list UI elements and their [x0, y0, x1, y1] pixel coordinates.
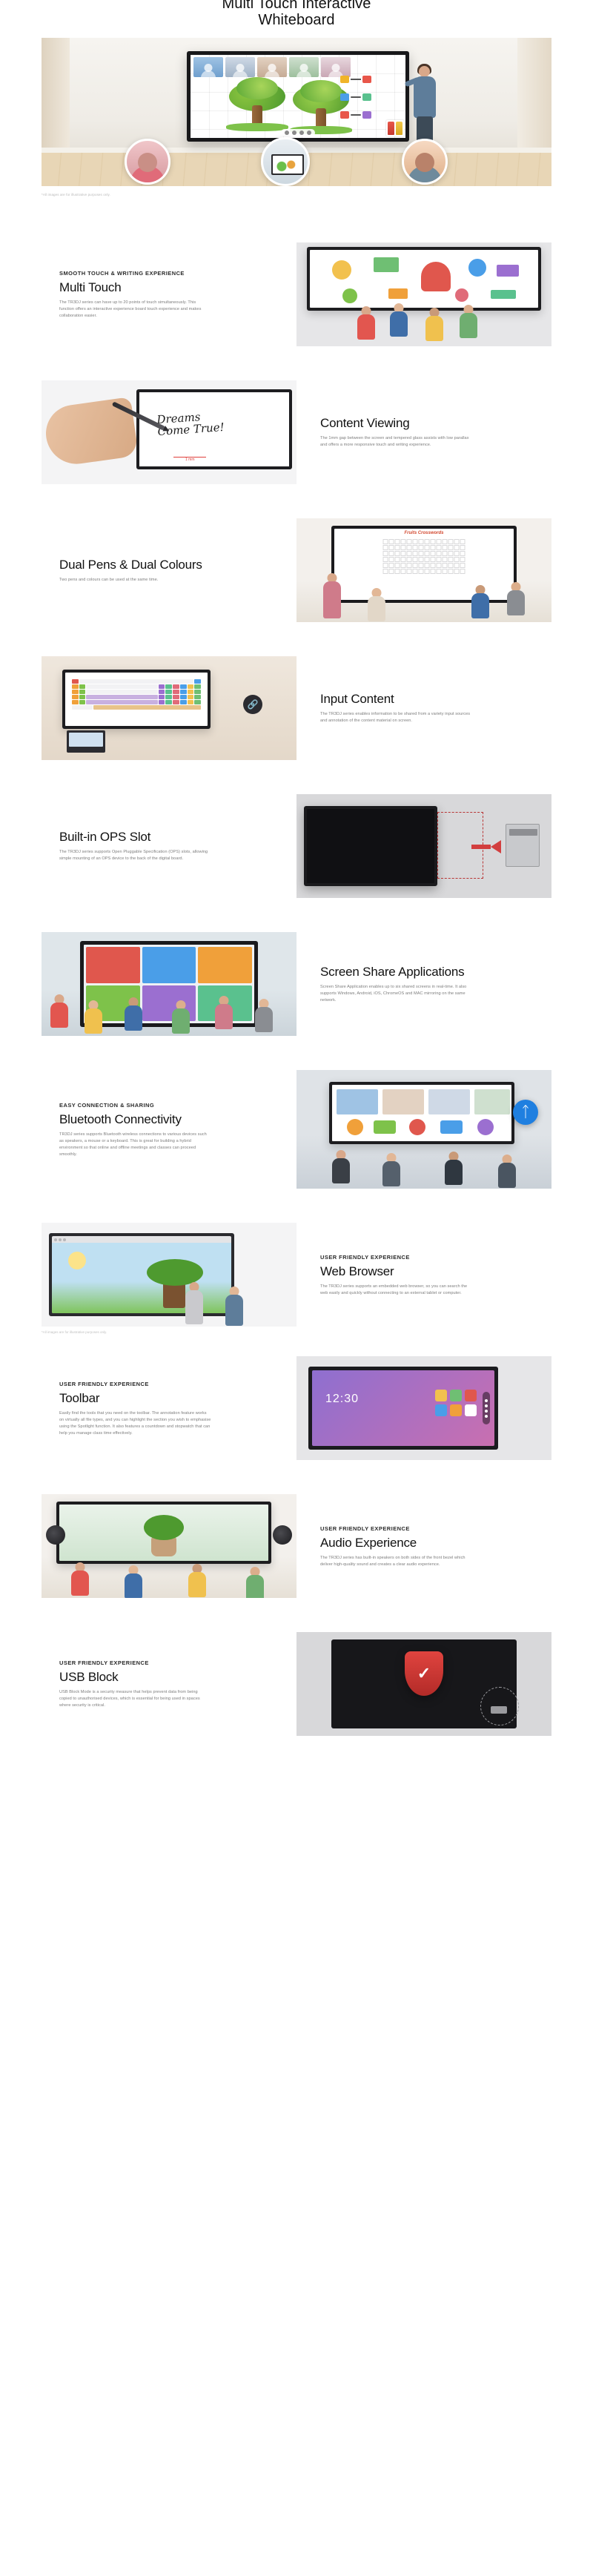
crossword-cell [425, 569, 430, 574]
mini-display-screen [273, 156, 302, 174]
feature-title: Toolbar [59, 1391, 273, 1405]
crossword-cell [448, 569, 454, 574]
crossword-cell [401, 569, 406, 574]
feature-image-bluetooth: ᛏ [296, 1070, 551, 1189]
crossword-cell [425, 539, 430, 544]
feature-text-block: Dual Pens & Dual Colours Two pens and co… [42, 558, 296, 584]
shield-check-glyph: ✓ [417, 1665, 431, 1682]
crossword-cell [419, 569, 424, 574]
feature-body: USB Block Mode is a security measure tha… [59, 1689, 211, 1709]
feature-title: Built-in OPS Slot [59, 830, 273, 844]
element-cell [79, 700, 86, 704]
element-cell [194, 690, 201, 694]
content-shape [440, 1120, 463, 1134]
crossword-cell [443, 569, 448, 574]
crossword-cell [443, 551, 448, 556]
feature-image-web-browser [42, 1223, 296, 1327]
crossword-cell [460, 569, 466, 574]
pen-tray [386, 120, 404, 136]
element-cell [72, 700, 79, 704]
crossword-cell [401, 551, 406, 556]
app-tile[interactable] [435, 1404, 447, 1416]
element-cell [79, 684, 86, 689]
diagram-node [340, 93, 349, 101]
hero-image [42, 38, 551, 186]
page-title-line1: Multi Touch Interactive [0, 0, 593, 12]
feature-image-screen-share [42, 932, 296, 1036]
link-icon: 🔗 [243, 695, 262, 714]
crossword-cell [448, 545, 454, 550]
shared-screen-tile [86, 947, 140, 983]
feature-body: The TR3DJ series has built-in speakers o… [320, 1555, 472, 1568]
crossword-cell [431, 545, 436, 550]
section-disclaimer: *All images are for illustrative purpose… [42, 1330, 551, 1334]
hero-disclaimer: *All images are for illustrative purpose… [42, 193, 551, 196]
doodle-shape [332, 260, 351, 280]
diagram-node [340, 111, 349, 119]
crossword-cell [448, 557, 454, 562]
diagram-connector [351, 114, 361, 116]
feature-bluetooth: EASY CONNECTION & SHARING Bluetooth Conn… [42, 1070, 551, 1189]
element-cell [72, 684, 79, 689]
yellow-pen-icon [396, 122, 402, 135]
display-panel [62, 670, 211, 729]
crossword-cell [437, 545, 442, 550]
element-cell [159, 695, 165, 699]
display-panel [307, 247, 541, 311]
element-cell [165, 700, 172, 704]
element-cell [188, 695, 194, 699]
element-cell [173, 700, 179, 704]
crossword-cell [419, 557, 424, 562]
feature-text-block: USER FRIENDLY EXPERIENCE Audio Experienc… [296, 1525, 551, 1568]
crossword-cell [460, 563, 466, 568]
crossword-cell [395, 569, 400, 574]
feature-body: The TR3DJ series enables information to … [320, 711, 472, 724]
crossword-cell [383, 563, 388, 568]
element-cell [79, 695, 86, 699]
participant-tile [382, 1089, 424, 1114]
student-body [50, 1003, 68, 1028]
feature-toolbar: USER FRIENDLY EXPERIENCE Toolbar Easily … [42, 1356, 551, 1460]
scene-background: 12:30 [296, 1356, 551, 1460]
participant-tile [193, 57, 223, 77]
scene-background [296, 242, 551, 346]
child-body [460, 313, 477, 338]
crossword-cell [431, 569, 436, 574]
side-toolbar[interactable] [483, 1392, 490, 1424]
element-cell [72, 695, 79, 699]
element-cell [180, 700, 187, 704]
feature-content-viewing: Content Viewing The 1mm gap between the … [42, 380, 551, 484]
crossword-cell [413, 539, 418, 544]
feature-body: Screen Share Application enables up to s… [320, 984, 472, 1004]
plant-leaves [144, 1515, 184, 1540]
toolbar-dot[interactable] [485, 1399, 488, 1402]
doodle-shape [491, 290, 516, 299]
feature-audio: USER FRIENDLY EXPERIENCE Audio Experienc… [42, 1494, 551, 1598]
app-tile[interactable] [465, 1390, 477, 1401]
crossword-cell [425, 551, 430, 556]
laptop-screen [69, 733, 103, 747]
student-body [255, 1007, 273, 1032]
child-body [471, 593, 489, 618]
product-page: Multi Touch Interactive Whiteboard [0, 0, 593, 1758]
gap-measure-label: 1 mm [185, 458, 195, 462]
periodic-table-grid [72, 679, 201, 719]
doodle-shape [374, 257, 399, 272]
scene-background: ✓ [296, 1632, 551, 1736]
shared-screen-tile [142, 947, 196, 983]
crossword-cell [419, 551, 424, 556]
audience-body [188, 1572, 206, 1597]
crossword-cell [443, 539, 448, 544]
ops-module-label-strip [509, 829, 537, 836]
student-body [215, 1004, 233, 1029]
feature-text-block: USER FRIENDLY EXPERIENCE Toolbar Easily … [42, 1380, 296, 1437]
crossword-cell [389, 539, 394, 544]
toolbar-dot[interactable] [485, 1404, 488, 1407]
thumbnail-bubble-device [261, 137, 310, 186]
feature-body: The 1mm gap between the screen and tempe… [320, 435, 472, 449]
bluetooth-icon: ᛏ [513, 1100, 538, 1125]
feature-body: Easily find the tools that you need on t… [59, 1410, 211, 1437]
crossword-cell [407, 563, 412, 568]
feature-title: Bluetooth Connectivity [59, 1112, 273, 1126]
element-cell [194, 700, 201, 704]
crossword-cell [401, 539, 406, 544]
presenter-body [225, 1295, 243, 1326]
presenter-figure [412, 66, 437, 146]
feature-image-audio [42, 1494, 296, 1598]
crossword-cell [401, 563, 406, 568]
display-rear-panel [307, 809, 434, 883]
crossword-cell [413, 557, 418, 562]
insert-arrow-head [491, 840, 501, 853]
student-body [172, 1008, 190, 1034]
content-shape [374, 1120, 396, 1134]
meeting-screen [332, 1085, 511, 1141]
feature-text-block: SMOOTH TOUCH & WRITING EXPERIENCE Multi … [42, 269, 296, 320]
scene-background [42, 932, 296, 1036]
feature-title: Audio Experience [320, 1536, 534, 1550]
feature-body: The TR3DJ series supports Open Pluggable… [59, 849, 211, 862]
insert-arrow-shaft [471, 845, 491, 849]
attendee-body [382, 1161, 400, 1186]
browser-dot [63, 1238, 66, 1241]
element-cell [86, 700, 157, 704]
crossword-cell [431, 551, 436, 556]
thumbnail-bubble-student [125, 139, 170, 185]
student-body [125, 1005, 142, 1031]
attendee-body [332, 1158, 350, 1183]
element-cell [173, 684, 179, 689]
crossword-display: Fruits Crosswords [331, 526, 517, 603]
page-title-line2: Whiteboard [0, 12, 593, 28]
feature-text-block: USER FRIENDLY EXPERIENCE Web Browser The… [296, 1253, 551, 1297]
diagram-illustration [337, 76, 380, 122]
feature-title: USB Block [59, 1670, 273, 1684]
diagram-connector [351, 96, 361, 98]
sun-illustration [68, 1252, 86, 1269]
content-shape [409, 1119, 425, 1135]
crossword-cell [383, 551, 388, 556]
doodle-shape [388, 288, 408, 299]
element-cell [165, 695, 172, 699]
feature-eyebrow: USER FRIENDLY EXPERIENCE [320, 1253, 534, 1261]
crossword-cell [419, 539, 424, 544]
doodle-shape [468, 259, 486, 277]
scene-background: Fruits Crosswords [296, 518, 551, 622]
feature-title: Input Content [320, 692, 534, 706]
element-cell [173, 695, 179, 699]
doodle-rocket [421, 262, 451, 291]
feature-dual-pens: Dual Pens & Dual Colours Two pens and co… [42, 518, 551, 622]
audience-body [246, 1575, 264, 1598]
element-cell [79, 690, 86, 694]
clock-display: 12:30 [325, 1393, 359, 1406]
feature-text-block: Input Content The TR3DJ series enables i… [296, 692, 551, 724]
crossword-cell [383, 557, 388, 562]
feature-title: Web Browser [320, 1264, 534, 1278]
element-cell [180, 684, 187, 689]
participant-tile [474, 1089, 510, 1114]
speaker-icon [273, 1525, 292, 1545]
crossword-cell [419, 545, 424, 550]
element-cell [72, 679, 79, 684]
feature-eyebrow: USER FRIENDLY EXPERIENCE [59, 1380, 273, 1388]
student-body [85, 1008, 102, 1034]
element-cell [194, 684, 201, 689]
crossword-cell [437, 569, 442, 574]
feature-text-block: Content Viewing The 1mm gap between the … [296, 416, 551, 449]
toolbar-dot [299, 131, 304, 135]
crossword-cell [389, 563, 394, 568]
browser-dot [54, 1238, 57, 1241]
participant-tile [289, 57, 319, 77]
feature-screen-share: Screen Share Applications Screen Share A… [42, 932, 551, 1036]
display-panel [329, 1082, 514, 1144]
feature-body: The TR3DJ series can have up to 20 point… [59, 300, 211, 320]
feature-title: Multi Touch [59, 280, 273, 294]
tree-illustration [229, 82, 285, 131]
crossword-cell [407, 545, 412, 550]
participant-tile [337, 1089, 378, 1114]
crossword-cell [395, 551, 400, 556]
crossword-cell [413, 563, 418, 568]
crossword-screen: Fruits Crosswords [334, 529, 514, 600]
crossword-grid [383, 539, 466, 574]
element-cell [86, 695, 157, 699]
crossword-cell [454, 545, 460, 550]
plant-image-screen [59, 1505, 268, 1561]
video-conference-tiles [193, 57, 351, 77]
audience-body [125, 1573, 142, 1598]
element-cell [188, 700, 194, 704]
element-cell [159, 690, 165, 694]
crossword-cell [431, 557, 436, 562]
participant-tile [321, 57, 351, 77]
crossword-title: Fruits Crosswords [404, 531, 443, 535]
display-panel [56, 1502, 271, 1564]
doodle-screen [310, 250, 538, 308]
app-tile[interactable] [450, 1404, 462, 1416]
crossword-cell [395, 539, 400, 544]
crossword-cell [413, 551, 418, 556]
feature-eyebrow: USER FRIENDLY EXPERIENCE [320, 1525, 534, 1533]
crossword-cell [389, 557, 394, 562]
toolbar-ui-screen: 12:30 [312, 1370, 494, 1446]
toolbar-dot[interactable] [485, 1410, 488, 1413]
feature-usb-block: USER FRIENDLY EXPERIENCE USB Block USB B… [42, 1632, 551, 1736]
app-tile[interactable] [435, 1390, 447, 1401]
feature-text-block: EASY CONNECTION & SHARING Bluetooth Conn… [42, 1101, 296, 1158]
feature-image-toolbar: 12:30 [296, 1356, 551, 1460]
doodle-shape [455, 288, 468, 302]
element-cell [194, 679, 201, 684]
doodle-shape [342, 288, 357, 303]
feature-title: Screen Share Applications [320, 965, 534, 979]
feature-text-block: USER FRIENDLY EXPERIENCE USB Block USB B… [42, 1659, 296, 1709]
element-cell [165, 684, 172, 689]
crossword-cell [443, 557, 448, 562]
browser-dot [59, 1238, 62, 1241]
element-cell [180, 695, 187, 699]
child-body [357, 314, 375, 340]
crossword-cell [389, 569, 394, 574]
crossword-cell [389, 551, 394, 556]
feature-title: Dual Pens & Dual Colours [59, 558, 273, 572]
crossword-cell [460, 539, 466, 544]
crossword-cell [389, 545, 394, 550]
toolbar-dot[interactable] [485, 1415, 488, 1418]
child-body [425, 316, 443, 341]
thumbnail-bubble-remote-user [402, 139, 448, 185]
ops-module [506, 824, 540, 867]
feature-image-input-content: 🔗 [42, 656, 296, 760]
scene-background: Dreams Come True! 1 mm [42, 380, 296, 484]
diagram-connector [351, 79, 361, 80]
attendee-body [445, 1160, 463, 1185]
speaker-icon [46, 1525, 65, 1545]
crossword-cell [425, 563, 430, 568]
element-cell [194, 695, 201, 699]
mini-display [271, 154, 304, 175]
element-cell [188, 684, 194, 689]
screen-toolbar [281, 129, 315, 136]
element-cell [159, 684, 165, 689]
feature-body: TR3DJ series supports Bluetooth wireless… [59, 1132, 211, 1158]
usb-plug-icon [491, 1706, 507, 1714]
element-cell [86, 690, 157, 694]
crossword-cell [454, 569, 460, 574]
crossword-cell [413, 545, 418, 550]
element-cell [86, 684, 157, 689]
crossword-cell [413, 569, 418, 574]
crossword-cell [395, 563, 400, 568]
feature-image-content-viewing: Dreams Come True! 1 mm [42, 380, 296, 484]
scene-background: ᛏ [296, 1070, 551, 1189]
crossword-cell [460, 557, 466, 562]
element-cell [180, 690, 187, 694]
scene-background [42, 1223, 296, 1327]
crossword-cell [460, 545, 466, 550]
crossword-cell [395, 557, 400, 562]
element-cell [159, 700, 165, 704]
app-tile[interactable] [465, 1404, 477, 1416]
crossword-cell [454, 539, 460, 544]
crossword-cell [431, 539, 436, 544]
crossword-cell [437, 563, 442, 568]
crossword-cell [454, 551, 460, 556]
page-title: Multi Touch Interactive Whiteboard [0, 0, 593, 28]
scene-background [296, 794, 551, 898]
diagram-node [340, 76, 349, 83]
diagram-node [362, 111, 371, 119]
crossword-cell [437, 539, 442, 544]
scene-background [42, 1494, 296, 1598]
feature-eyebrow: SMOOTH TOUCH & WRITING EXPERIENCE [59, 269, 273, 277]
crossword-cell [448, 551, 454, 556]
feature-image-ops-slot [296, 794, 551, 898]
feature-body: The TR3DJ series supports an embedded we… [320, 1284, 472, 1297]
child-body [368, 596, 385, 621]
element-cell [173, 690, 179, 694]
display-rear-view [304, 806, 437, 886]
crossword-cell [425, 557, 430, 562]
display-panel: 12:30 [308, 1367, 498, 1450]
feature-ops-slot: Built-in OPS Slot The TR3DJ series suppo… [42, 794, 551, 898]
periodic-table-screen [65, 673, 208, 726]
feature-image-usb-block: ✓ [296, 1632, 551, 1736]
crossword-cell [383, 569, 388, 574]
feature-eyebrow: EASY CONNECTION & SHARING [59, 1101, 273, 1109]
crossword-cell [401, 545, 406, 550]
crossword-cell [407, 569, 412, 574]
shared-screen-tile [198, 947, 252, 983]
content-shape [347, 1119, 363, 1135]
attendee-body [498, 1163, 516, 1188]
crossword-cell [395, 545, 400, 550]
toolbar-dot [307, 131, 311, 135]
feature-text-block: Screen Share Applications Screen Share A… [296, 965, 551, 1004]
feature-web-browser: USER FRIENDLY EXPERIENCE Web Browser The… [42, 1223, 551, 1327]
element-cell [188, 690, 194, 694]
tree-foliage-top [236, 77, 278, 99]
feature-title: Content Viewing [320, 416, 534, 430]
toolbar-dot [285, 131, 289, 135]
browser-viewport [52, 1243, 231, 1313]
figure-body [323, 581, 341, 618]
laptop-device [67, 730, 105, 753]
whiteboard-display: Dreams Come True! 1 mm [136, 389, 292, 469]
element-cell [93, 705, 201, 710]
element-cell [79, 679, 194, 684]
element-cell [165, 690, 172, 694]
crossword-cell [437, 557, 442, 562]
element-cell [72, 705, 93, 710]
hero-display-panel [187, 51, 409, 142]
feature-body: Two pens and colours can be used at the … [59, 577, 211, 584]
browser-toolbar[interactable] [52, 1236, 231, 1243]
red-pen-icon [388, 122, 394, 135]
feature-multi-touch: SMOOTH TOUCH & WRITING EXPERIENCE Multi … [42, 242, 551, 346]
crossword-cell [425, 545, 430, 550]
participant-tile [257, 57, 287, 77]
presenter-body [185, 1290, 203, 1324]
app-tile[interactable] [450, 1390, 462, 1401]
feature-text-block: Built-in OPS Slot The TR3DJ series suppo… [42, 830, 296, 862]
